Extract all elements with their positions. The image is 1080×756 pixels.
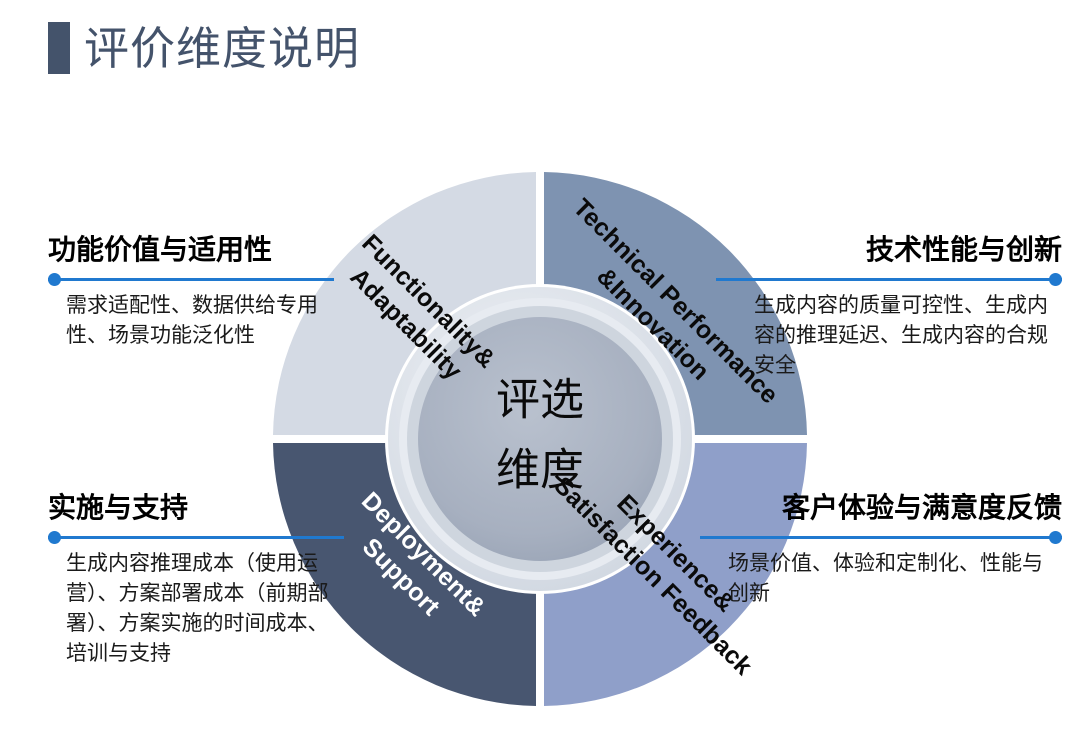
hub-label-line1: 评选 [496,376,584,425]
callout-rule-line [48,536,344,539]
callout-rule-line [48,278,334,281]
callout-rule [700,529,1062,545]
callout-rule-dot-icon [48,273,61,286]
callout-title: 技术性能与创新 [716,234,1062,266]
callout-rule-line [700,536,1062,539]
callout-rule [48,271,334,287]
callout-title: 实施与支持 [48,492,344,524]
callout-body: 场景价值、体验和定制化、性能与创新 [700,549,1062,609]
callout-deployment-support: 实施与支持 生成内容推理成本（使用运营）、方案部署成本（前期部署）、方案实施的时… [48,492,344,668]
callout-rule [716,271,1062,287]
callout-title: 功能价值与适用性 [48,234,334,266]
callout-title: 客户体验与满意度反馈 [700,492,1062,524]
callout-rule-dot-icon [1049,531,1062,544]
callout-body: 需求适配性、数据供给专用性、场景功能泛化性 [48,291,334,351]
callout-rule-dot-icon [48,531,61,544]
page-title: 评价维度说明 [48,22,360,74]
title-bullet-icon [48,22,70,74]
callout-customer-experience: 客户体验与满意度反馈 场景价值、体验和定制化、性能与创新 [700,492,1062,609]
callout-rule-line [716,278,1062,281]
callout-body: 生成内容的质量可控性、生成内容的推理延迟、生成内容的合规安全 [716,291,1062,380]
page-title-text: 评价维度说明 [84,26,360,71]
callout-functional-value: 功能价值与适用性 需求适配性、数据供给专用性、场景功能泛化性 [48,234,334,351]
callout-body: 生成内容推理成本（使用运营）、方案部署成本（前期部署）、方案实施的时间成本、培训… [48,549,344,668]
callout-rule [48,529,344,545]
callout-technical-performance: 技术性能与创新 生成内容的质量可控性、生成内容的推理延迟、生成内容的合规安全 [716,234,1062,381]
callout-rule-dot-icon [1049,273,1062,286]
